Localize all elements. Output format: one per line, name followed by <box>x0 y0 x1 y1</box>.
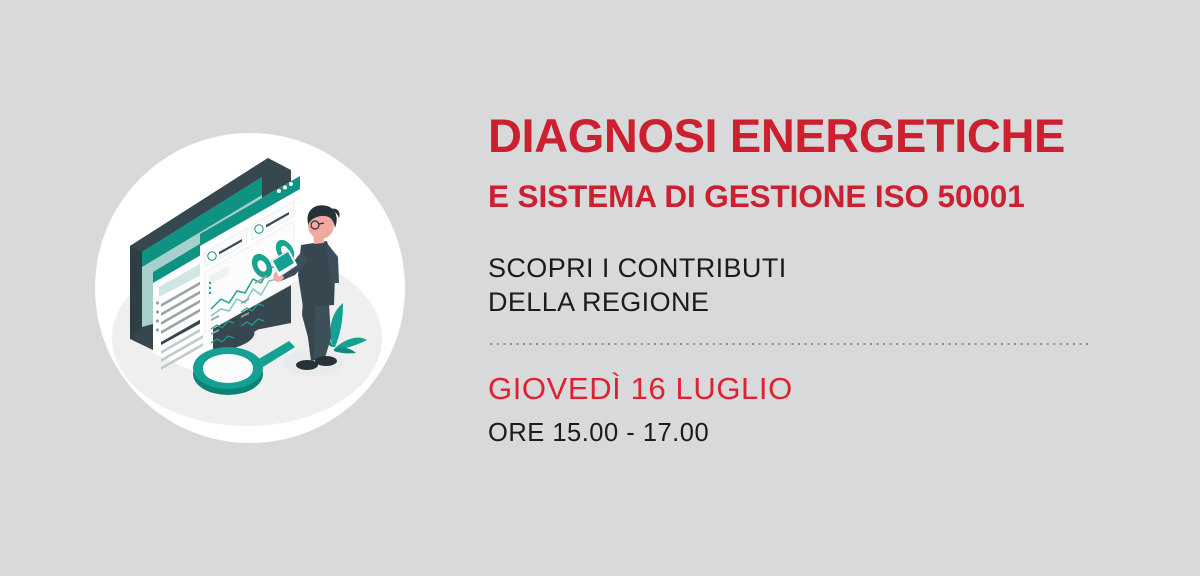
lead-line-1: SCOPRI I CONTRIBUTI <box>488 251 1148 286</box>
event-time: ORE 15.00 - 17.00 <box>488 421 1148 447</box>
dotted-divider <box>488 341 1092 345</box>
text-block: DIAGNOSI ENERGETICHE E SISTEMA DI GESTIO… <box>488 112 1148 446</box>
isometric-dashboard-illustration <box>95 133 405 443</box>
page-title: DIAGNOSI ENERGETICHE <box>488 112 1148 159</box>
event-banner: DIAGNOSI ENERGETICHE E SISTEMA DI GESTIO… <box>0 0 1200 576</box>
lead-line-2: DELLA REGIONE <box>488 285 1148 320</box>
page-subtitle: E SISTEMA DI GESTIONE ISO 50001 <box>488 181 1148 213</box>
lead-paragraph: SCOPRI I CONTRIBUTI DELLA REGIONE <box>488 251 1148 320</box>
event-date: GIOVEDÌ 16 LUGLIO <box>488 373 1148 404</box>
illustration <box>95 133 405 443</box>
